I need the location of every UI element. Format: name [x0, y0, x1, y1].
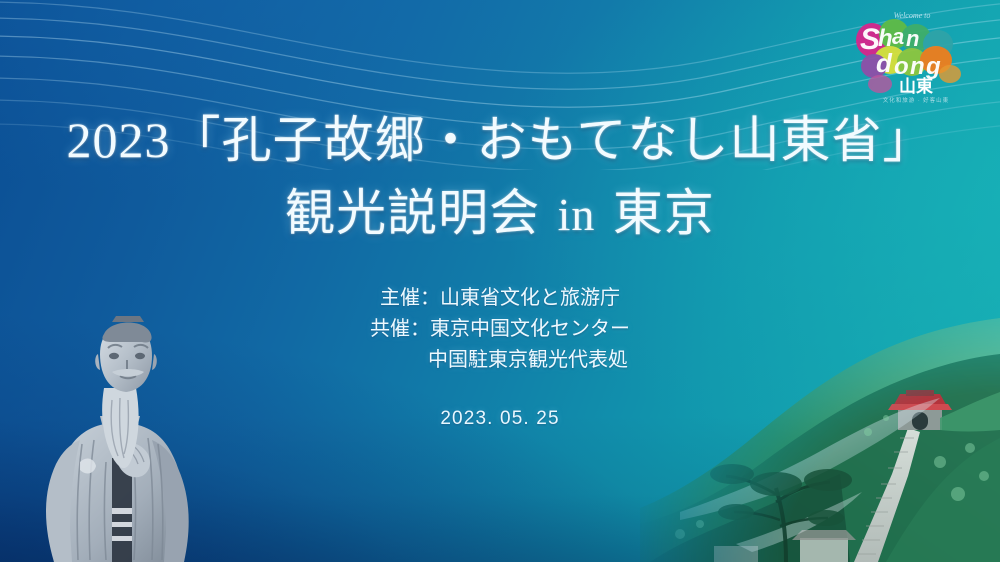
poster-text-content: 2023「孔子故郷・おもてなし山東省」 観光説明会 in 東京 主催：山東省文化… — [0, 0, 1000, 562]
event-date: 2023. 05. 25 — [0, 408, 1000, 430]
organizer-line-cohost-second: 中国駐東京観光代表処 — [0, 345, 1000, 376]
organizer-line-host: 主催：山東省文化と旅游庁 — [0, 283, 1000, 314]
page-title-line-2-pre: 観光説明会 — [285, 185, 540, 241]
event-poster: Welcome to S h a n d o n g 山東 文化和旅游 · 好客… — [0, 0, 1000, 562]
page-title-line-2-post: 東京 — [613, 185, 715, 241]
page-title-line-1: 2023「孔子故郷・おもてなし山東省」 — [0, 112, 1000, 168]
page-title-line-2: 観光説明会 in 東京 — [0, 185, 1000, 243]
organizer-line-cohost: 共催：東京中国文化センター — [0, 314, 1000, 345]
organizer-block: 主催：山東省文化と旅游庁 共催：東京中国文化センター 中国駐東京観光代表処 — [0, 283, 1000, 376]
page-title-line-2-latin: in — [554, 189, 600, 240]
